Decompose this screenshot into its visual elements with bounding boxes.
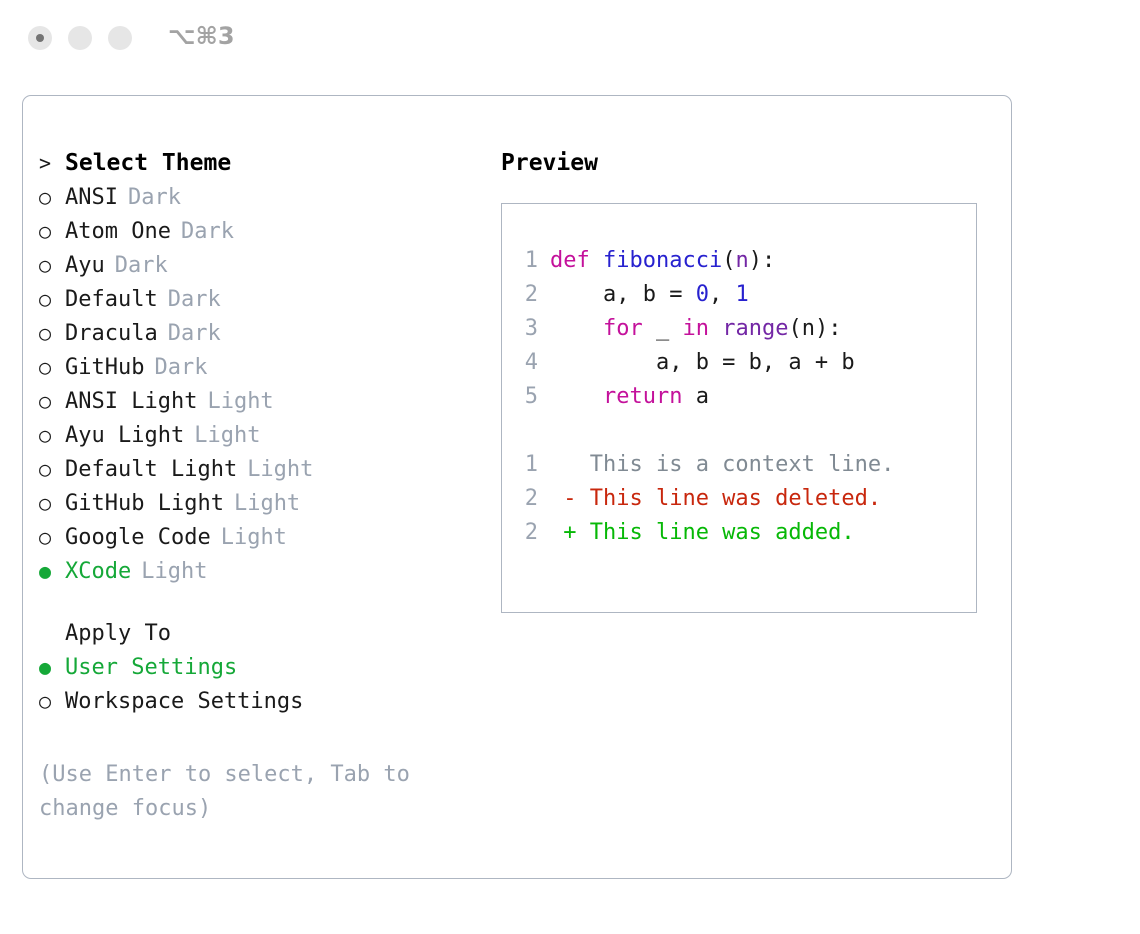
preview-title: Preview xyxy=(501,146,1001,180)
code-line: 3 for _ in range(n): xyxy=(512,312,972,346)
theme-variant-label: Light xyxy=(194,419,260,453)
window-titlebar: ⌥⌘3 xyxy=(0,0,1140,78)
line-number: 1 xyxy=(512,244,538,278)
diff-line: 1 This is a context line. xyxy=(512,448,972,482)
theme-name-label: GitHub xyxy=(65,351,144,385)
code-token xyxy=(550,316,603,341)
code-line: 5 return a xyxy=(512,380,972,414)
theme-selector-column: > Select Theme ○ANSIDark○Atom OneDark○Ay… xyxy=(39,146,479,718)
code-token: 0 xyxy=(696,282,709,307)
code-token: + This line was added. xyxy=(550,520,855,545)
diff-line-text: - This line was deleted. xyxy=(550,482,881,516)
code-line-text: def fibonacci(n): xyxy=(550,244,775,278)
app-window: ⌥⌘3 > Select Theme ○ANSIDark○Atom OneDar… xyxy=(0,0,1140,934)
radio-unselected-icon: ○ xyxy=(39,248,65,282)
theme-name-label: Dracula xyxy=(65,317,158,351)
code-line-text: a, b = 0, 1 xyxy=(550,278,749,312)
apply-to-option[interactable]: ●User Settings xyxy=(39,650,479,684)
code-token: a, b = b, a + b xyxy=(550,350,855,375)
theme-name-label: Atom One xyxy=(65,215,171,249)
apply-to-header: Apply To xyxy=(39,616,479,650)
theme-list-item[interactable]: ○ANSI LightLight xyxy=(39,384,479,418)
code-token: return xyxy=(603,384,682,409)
radio-unselected-icon: ○ xyxy=(39,520,65,554)
theme-name-label: Google Code xyxy=(65,521,211,555)
apply-to-option-label: User Settings xyxy=(65,651,237,685)
theme-variant-label: Dark xyxy=(168,283,221,317)
preview-column: Preview 1def fibonacci(n):2 a, b = 0, 13… xyxy=(501,146,1001,180)
code-line-text: return a xyxy=(550,380,709,414)
theme-list-item[interactable]: ○GitHubDark xyxy=(39,350,479,384)
traffic-light-dot-2[interactable] xyxy=(68,26,92,50)
select-theme-label: Select Theme xyxy=(65,146,231,180)
apply-to-option-label: Workspace Settings xyxy=(65,685,303,719)
radio-selected-icon: ● xyxy=(39,650,65,684)
code-token: - This line was deleted. xyxy=(550,486,881,511)
code-token: a, b = xyxy=(550,282,696,307)
code-token: , xyxy=(709,282,736,307)
theme-variant-label: Dark xyxy=(168,317,221,351)
keyboard-shortcut-label: ⌥⌘3 xyxy=(168,22,235,50)
line-number: 3 xyxy=(512,312,538,346)
radio-selected-icon: ● xyxy=(39,554,65,588)
theme-variant-label: Light xyxy=(207,385,273,419)
radio-unselected-icon: ○ xyxy=(39,684,65,718)
theme-variant-label: Dark xyxy=(115,249,168,283)
line-number: 2 xyxy=(512,278,538,312)
code-preview: 1def fibonacci(n):2 a, b = 0, 13 for _ i… xyxy=(512,244,972,550)
code-token: def xyxy=(550,248,603,273)
code-line: 1def fibonacci(n): xyxy=(512,244,972,278)
apply-to-marker-icon xyxy=(39,616,65,650)
theme-variant-label: Light xyxy=(141,555,207,589)
code-token: ): xyxy=(749,248,776,273)
theme-name-label: Default Light xyxy=(65,453,237,487)
theme-list-item[interactable]: ○Atom OneDark xyxy=(39,214,479,248)
code-line: 2 a, b = 0, 1 xyxy=(512,278,972,312)
theme-variant-label: Dark xyxy=(128,181,181,215)
theme-list-item[interactable]: ●XCodeLight xyxy=(39,554,479,588)
radio-unselected-icon: ○ xyxy=(39,282,65,316)
diff-line: 2 + This line was added. xyxy=(512,516,972,550)
line-number: 4 xyxy=(512,346,538,380)
code-token: range xyxy=(722,316,788,341)
theme-list-item[interactable]: ○DraculaDark xyxy=(39,316,479,350)
radio-unselected-icon: ○ xyxy=(39,452,65,486)
diff-line-text: This is a context line. xyxy=(550,448,894,482)
theme-name-label: Default xyxy=(65,283,158,317)
traffic-light-dot-3[interactable] xyxy=(108,26,132,50)
theme-variant-label: Dark xyxy=(181,215,234,249)
radio-unselected-icon: ○ xyxy=(39,350,65,384)
prompt-caret-icon: > xyxy=(39,146,65,180)
code-token xyxy=(550,384,603,409)
code-token: in xyxy=(682,316,709,341)
radio-unselected-icon: ○ xyxy=(39,486,65,520)
theme-list: ○ANSIDark○Atom OneDark○AyuDark○DefaultDa… xyxy=(39,180,479,588)
preview-box: 1def fibonacci(n):2 a, b = 0, 13 for _ i… xyxy=(501,203,977,613)
radio-unselected-icon: ○ xyxy=(39,214,65,248)
apply-to-label: Apply To xyxy=(65,617,171,651)
theme-name-label: XCode xyxy=(65,555,131,589)
theme-list-item[interactable]: ○GitHub LightLight xyxy=(39,486,479,520)
code-line-text: for _ in range(n): xyxy=(550,312,841,346)
theme-list-item[interactable]: ○Default LightLight xyxy=(39,452,479,486)
radio-unselected-icon: ○ xyxy=(39,180,65,214)
diff-line-text: + This line was added. xyxy=(550,516,855,550)
theme-applyto-spacer xyxy=(39,588,479,616)
theme-list-item[interactable]: ○ANSIDark xyxy=(39,180,479,214)
code-token: (n): xyxy=(788,316,841,341)
traffic-light-active-dot[interactable] xyxy=(28,26,52,50)
line-number: 2 xyxy=(512,516,538,550)
theme-variant-label: Light xyxy=(234,487,300,521)
line-number: 5 xyxy=(512,380,538,414)
code-diff-separator xyxy=(512,414,972,448)
code-token xyxy=(709,316,722,341)
radio-unselected-icon: ○ xyxy=(39,384,65,418)
code-token: a xyxy=(682,384,709,409)
theme-name-label: Ayu xyxy=(65,249,105,283)
theme-name-label: Ayu Light xyxy=(65,419,184,453)
theme-name-label: ANSI Light xyxy=(65,385,197,419)
active-dot-indicator-icon xyxy=(36,34,44,42)
code-token: ( xyxy=(722,248,735,273)
theme-variant-label: Dark xyxy=(154,351,207,385)
apply-to-list: ●User Settings○Workspace Settings xyxy=(39,650,479,718)
diff-line: 2 - This line was deleted. xyxy=(512,482,972,516)
theme-name-label: ANSI xyxy=(65,181,118,215)
main-panel: > Select Theme ○ANSIDark○Atom OneDark○Ay… xyxy=(22,95,1012,879)
code-token: n xyxy=(735,248,748,273)
code-line: 4 a, b = b, a + b xyxy=(512,346,972,380)
keyboard-hint-text: (Use Enter to select, Tab to change focu… xyxy=(39,758,459,826)
code-line-text: a, b = b, a + b xyxy=(550,346,855,380)
theme-list-item[interactable]: ○AyuDark xyxy=(39,248,479,282)
theme-name-label: GitHub Light xyxy=(65,487,224,521)
radio-unselected-icon: ○ xyxy=(39,418,65,452)
theme-list-item[interactable]: ○Google CodeLight xyxy=(39,520,479,554)
theme-list-item[interactable]: ○DefaultDark xyxy=(39,282,479,316)
radio-unselected-icon: ○ xyxy=(39,316,65,350)
code-token: for xyxy=(603,316,643,341)
apply-to-option[interactable]: ○Workspace Settings xyxy=(39,684,479,718)
theme-list-item[interactable]: ○Ayu LightLight xyxy=(39,418,479,452)
line-number: 1 xyxy=(512,448,538,482)
select-theme-header: > Select Theme xyxy=(39,146,479,180)
code-token: _ xyxy=(643,316,683,341)
line-number: 2 xyxy=(512,482,538,516)
code-token: 1 xyxy=(735,282,748,307)
code-token: fibonacci xyxy=(603,248,722,273)
theme-variant-label: Light xyxy=(221,521,287,555)
theme-variant-label: Light xyxy=(247,453,313,487)
code-token: This is a context line. xyxy=(550,452,894,477)
